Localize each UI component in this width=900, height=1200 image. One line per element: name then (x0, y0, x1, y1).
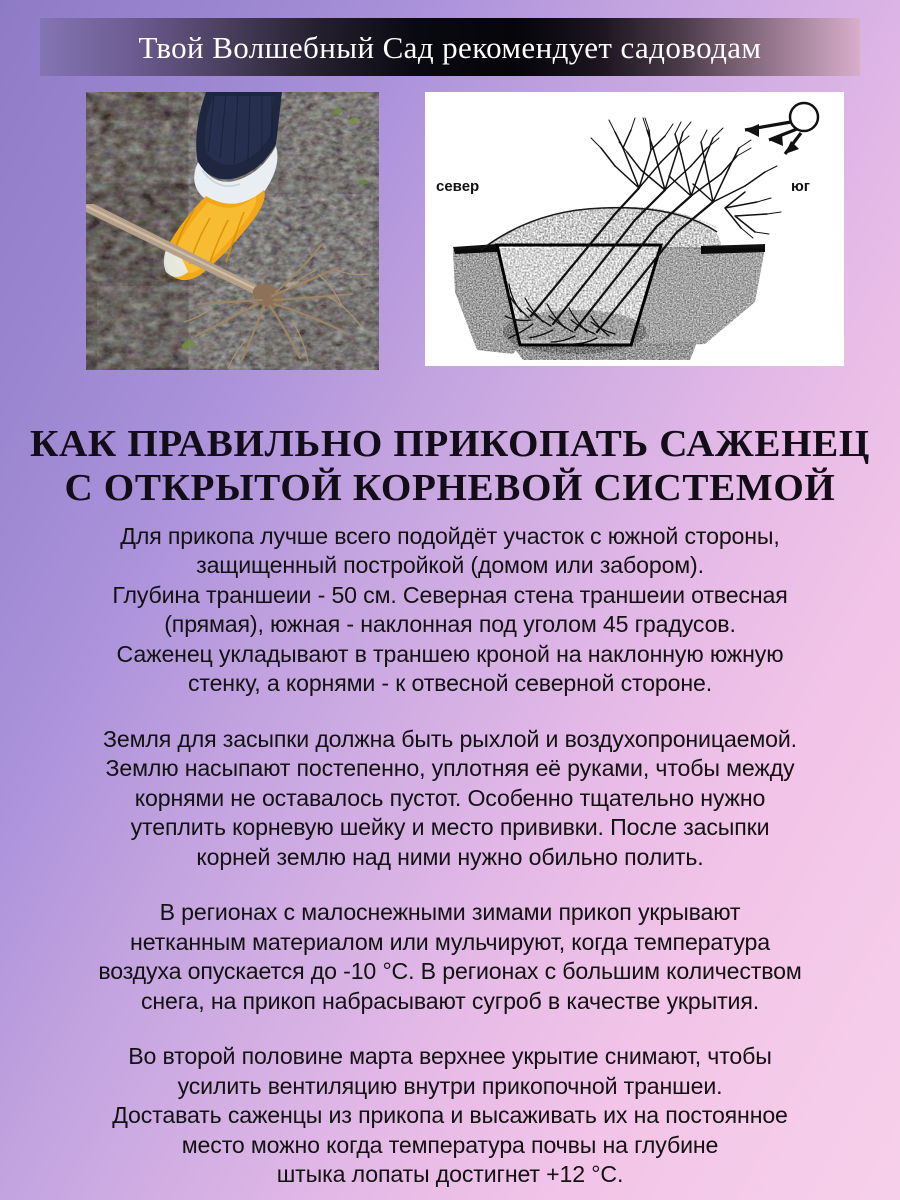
media-row: север юг (0, 92, 900, 370)
planting-photo (86, 92, 379, 370)
paragraph-line: Во второй половине марта верхнее укрытие… (15, 1042, 886, 1071)
paragraph-line: стенку, а корнями - к отвесной северной … (15, 669, 886, 698)
paragraph-line: Глубина траншеии - 50 см. Северная стена… (15, 581, 886, 610)
sun-icon (790, 103, 818, 131)
paragraph-line: воздуха опускается до -10 °C. В регионах… (15, 957, 886, 986)
paragraph-line: штыка лопаты достигнет +12 °C. (15, 1160, 886, 1189)
paragraph-line: место можно когда температура почвы на г… (15, 1131, 886, 1160)
paragraph-line: (прямая), южная - наклонная под уголом 4… (15, 610, 886, 639)
paragraph-line: Для прикопа лучше всего подойдёт участок… (15, 522, 886, 551)
page-title: КАК ПРАВИЛЬНО ПРИКОПАТЬ САЖЕНЕЦ С ОТКРЫТ… (0, 423, 900, 510)
paragraph-line: утеплить корневую шейку и место прививки… (15, 813, 886, 842)
paragraph-line: Доставать саженцы из прикопа и высаживат… (15, 1101, 886, 1130)
poster-root: Твой Волшебный Сад рекомендует садоводам (0, 0, 900, 1200)
paragraph-4: Во второй половине марта верхнее укрытие… (15, 1042, 886, 1189)
paragraph-line: В регионах с малоснежными зимами прикоп … (15, 898, 886, 927)
paragraph-line: нетканным материалом или мульчируют, ког… (15, 928, 886, 957)
paragraph-line: снега, на прикоп набрасывают сугроб в ка… (15, 987, 886, 1016)
header-banner: Твой Волшебный Сад рекомендует садоводам (40, 18, 860, 76)
page-title-line-2: С ОТКРЫТОЙ КОРНЕВОЙ СИСТЕМОЙ (0, 467, 900, 510)
banner-title: Твой Волшебный Сад рекомендует садоводам (139, 32, 762, 63)
paragraph-2: Земля для засыпки должна быть рыхлой и в… (15, 725, 886, 872)
diagram-label-north: север (436, 178, 479, 195)
planting-photo-graphic (86, 92, 379, 370)
paragraph-line: Саженец укладывают в траншею кроной на н… (15, 640, 886, 669)
trench-diagram-graphic (425, 92, 844, 366)
paragraph-3: В регионах с малоснежными зимами прикоп … (15, 898, 886, 1016)
body-text: Для прикопа лучше всего подойдёт участок… (8, 522, 892, 1190)
diagram-label-south: юг (791, 178, 810, 195)
paragraph-line: корней землю над ними нужно обильно поли… (15, 843, 886, 872)
paragraph-line: Землю насыпают постепенно, уплотняя её р… (15, 754, 886, 783)
paragraph-line: защищенный постройкой (домом или забором… (15, 551, 886, 580)
page-title-line-1: КАК ПРАВИЛЬНО ПРИКОПАТЬ САЖЕНЕЦ (0, 423, 900, 466)
paragraph-line: Земля для засыпки должна быть рыхлой и в… (15, 725, 886, 754)
paragraph-line: корнями не оставалось пустот. Особенно т… (15, 784, 886, 813)
trench-diagram: север юг (425, 92, 844, 366)
paragraph-line: усилить вентиляцию внутри прикопочной тр… (15, 1072, 886, 1101)
paragraph-1: Для прикопа лучше всего подойдёт участок… (15, 522, 886, 699)
